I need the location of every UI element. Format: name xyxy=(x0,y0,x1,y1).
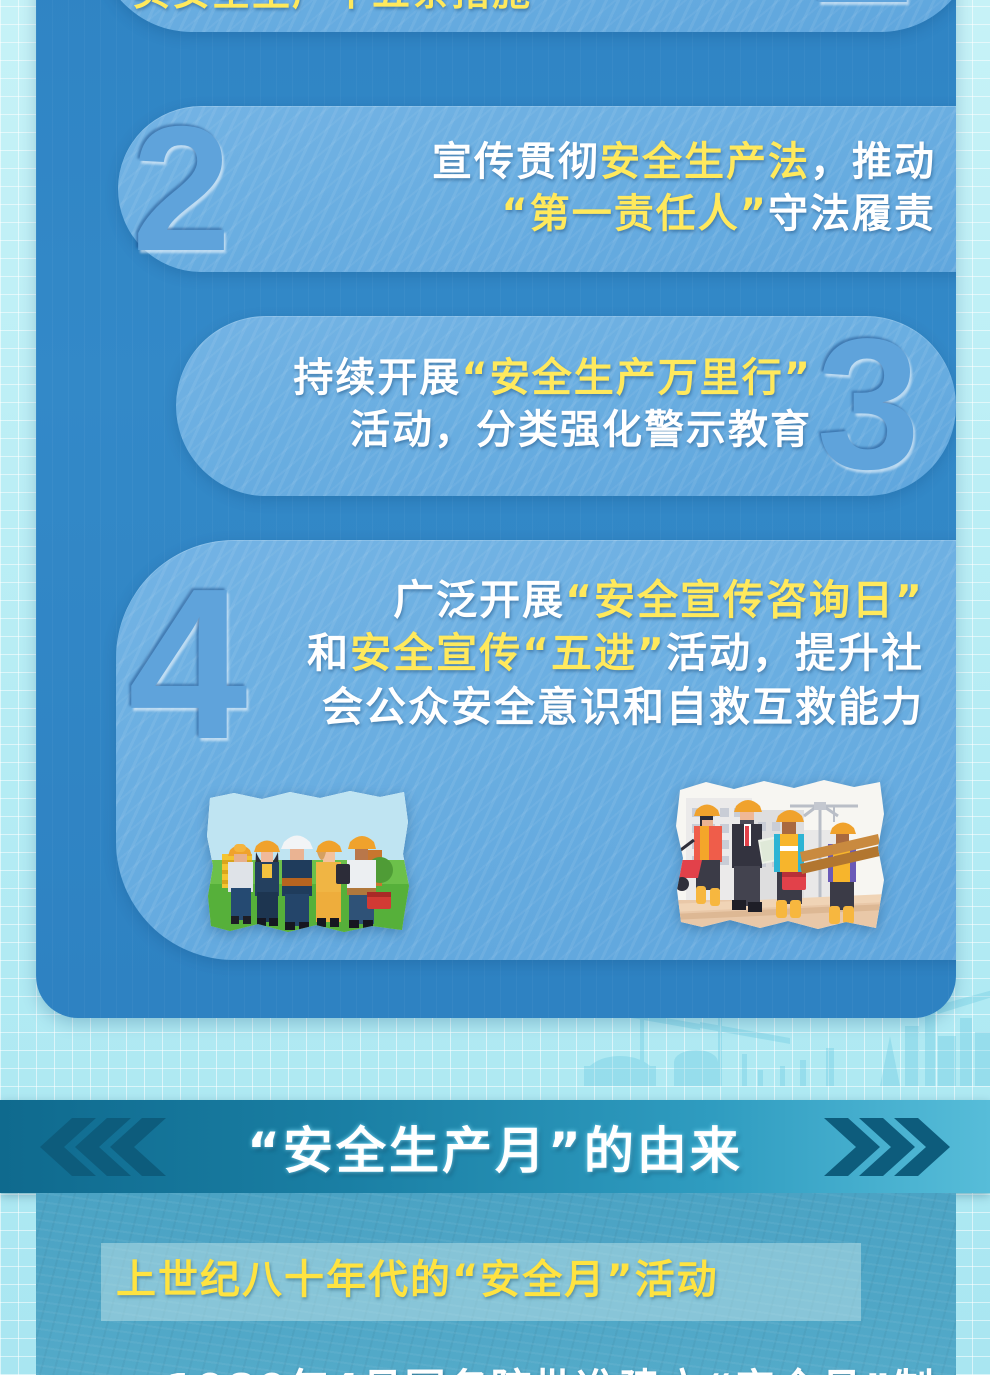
highlight-text: 安全宣传“五进” xyxy=(350,629,666,677)
body-text: 宣传贯彻 xyxy=(432,139,600,185)
chevron-right-triple-icon xyxy=(821,1118,966,1176)
measure-text-4: 广泛开展“安全宣传咨询日” 和安全宣传“五进”活动，提升社 会公众安全意识和自救… xyxy=(264,574,924,734)
body-text: 持续开展 xyxy=(293,355,461,401)
workers-group-illustration xyxy=(204,788,414,936)
origin-body-text: 1980年4月国务院批准建立“安全月”制 xyxy=(166,1355,956,1375)
body-text: ，推动 xyxy=(810,139,936,185)
construction-site-illustration xyxy=(672,776,887,936)
measures-panel: 1 2 3 4 实安全生产十五条措施 宣传贯彻安全生产法，推动 “第一责任人”守… xyxy=(36,0,956,1018)
chevron-left-triple-icon xyxy=(24,1118,169,1176)
measure-number-2: 2 xyxy=(132,100,231,278)
measure-text-1: 实安全生产十五条措施 xyxy=(132,0,532,17)
measure-number-3: 3 xyxy=(817,312,920,498)
highlight-text: 安全生产法 xyxy=(600,139,810,185)
measure-text-3: 持续开展“安全生产万里行” 活动，分类强化警示教育 xyxy=(132,352,812,456)
highlight-text: “安全生产万里行” xyxy=(461,355,812,401)
origin-heading: 上世纪八十年代的“安全月”活动 xyxy=(116,1247,856,1305)
page-background: 1 2 3 4 实安全生产十五条措施 宣传贯彻安全生产法，推动 “第一责任人”守… xyxy=(0,0,990,1375)
body-text: 和 xyxy=(307,629,350,677)
highlight-text: “第一责任人” xyxy=(501,191,768,237)
body-text: 活动，分类强化警示教育 xyxy=(350,407,812,453)
measure-number-1: 1 xyxy=(806,0,912,32)
highlight-text: “安全宣传咨询日” xyxy=(565,576,924,624)
section-header-band: “安全生产月”的由来 xyxy=(0,1100,990,1193)
section-title: “安全生产月”的由来 xyxy=(247,1111,743,1183)
highlight-text: 实安全生产十五条措施 xyxy=(132,0,532,14)
body-text: 广泛开展 xyxy=(393,576,565,624)
measure-text-2: 宣传贯彻安全生产法，推动 “第一责任人”守法履责 xyxy=(276,136,936,240)
origin-section-panel: 上世纪八十年代的“安全月”活动 1980年4月国务院批准建立“安全月”制 xyxy=(36,1193,956,1375)
body-text: 守法履责 xyxy=(768,191,936,237)
measure-number-4: 4 xyxy=(128,556,248,771)
